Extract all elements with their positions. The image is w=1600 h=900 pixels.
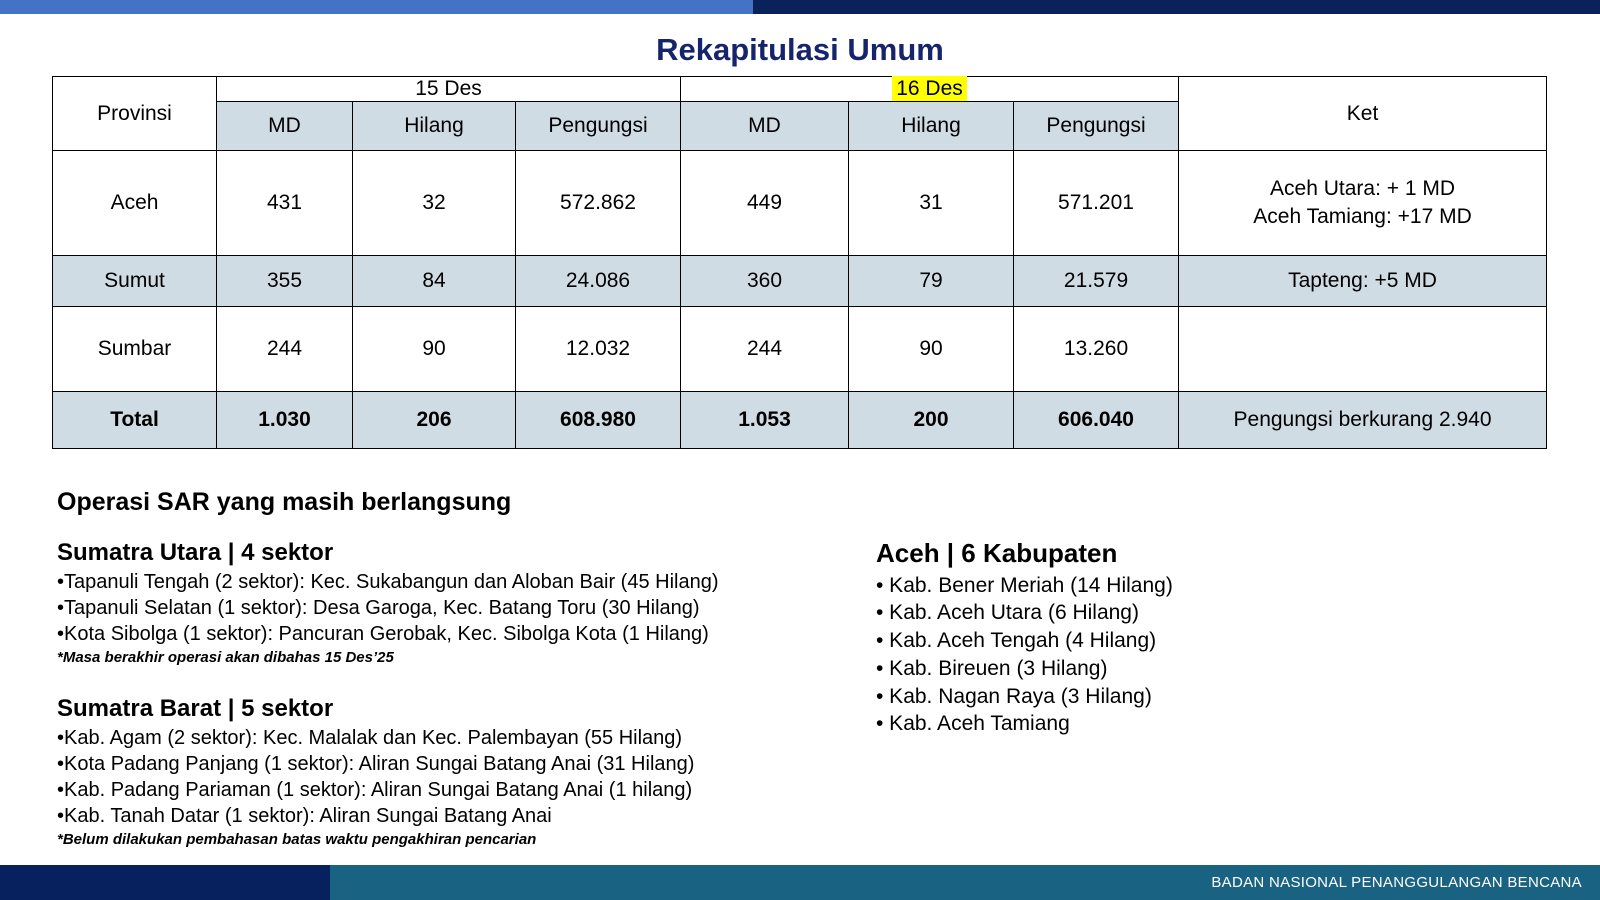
- header-sub-md-16: MD: [681, 102, 849, 151]
- cell-hilang-15: 90: [353, 307, 516, 392]
- footer-organization-name: BADAN NASIONAL PENANGGULANGAN BENCANA: [1211, 874, 1582, 891]
- header-sub-pengungsi-16: Pengungsi: [1014, 102, 1179, 151]
- sar-block-title: Aceh | 6 Kabupaten: [876, 538, 1496, 570]
- table-row-total: Total 1.030 206 608.980 1.053 200 606.04…: [53, 392, 1547, 449]
- list-item: •Kab. Padang Pariaman (1 sektor): Aliran…: [57, 777, 847, 803]
- ket-line: Aceh Tamiang: +17 MD: [1185, 203, 1540, 231]
- cell-pengungsi-16: 606.040: [1014, 392, 1179, 449]
- ket-line: Tapteng: +5 MD: [1185, 267, 1540, 295]
- list-item: • Kab. Aceh Tamiang: [876, 710, 1496, 738]
- section-spacer: [57, 668, 847, 694]
- cell-pengungsi-15: 608.980: [516, 392, 681, 449]
- cell-hilang-16: 200: [849, 392, 1014, 449]
- header-sub-pengungsi-15: Pengungsi: [516, 102, 681, 151]
- header-group-15-des: 15 Des: [217, 77, 681, 102]
- ket-line: Aceh Utara: + 1 MD: [1185, 175, 1540, 203]
- cell-ket: [1179, 307, 1547, 392]
- table-row: Sumbar 244 90 12.032 244 90 13.260: [53, 307, 1547, 392]
- cell-md-16: 244: [681, 307, 849, 392]
- footer-segment-right: BADAN NASIONAL PENANGGULANGAN BENCANA: [330, 865, 1600, 900]
- cell-hilang-16: 31: [849, 151, 1014, 256]
- top-decorative-bar: [0, 0, 1600, 14]
- recapitulation-table-container: Provinsi 15 Des 16 Des Ket MD Hilang Pen…: [52, 76, 1546, 449]
- cell-provinsi: Total: [53, 392, 217, 449]
- header-sub-hilang-15: Hilang: [353, 102, 516, 151]
- sar-bullet-list: • Kab. Bener Meriah (14 Hilang) • Kab. A…: [876, 572, 1496, 738]
- cell-md-15: 355: [217, 256, 353, 307]
- cell-md-15: 244: [217, 307, 353, 392]
- cell-ket: Tapteng: +5 MD: [1179, 256, 1547, 307]
- top-bar-segment-left: [0, 0, 753, 14]
- header-group-16-des-label: 16 Des: [892, 76, 967, 101]
- sar-left-column: Sumatra Utara | 4 sektor •Tapanuli Tenga…: [57, 538, 847, 850]
- cell-pengungsi-16: 571.201: [1014, 151, 1179, 256]
- sar-block-sumatra-utara: Sumatra Utara | 4 sektor •Tapanuli Tenga…: [57, 538, 847, 668]
- cell-hilang-16: 90: [849, 307, 1014, 392]
- list-item: • Kab. Aceh Utara (6 Hilang): [876, 599, 1496, 627]
- cell-provinsi: Aceh: [53, 151, 217, 256]
- table-header-row-groups: Provinsi 15 Des 16 Des Ket: [53, 77, 1547, 102]
- recapitulation-table: Provinsi 15 Des 16 Des Ket MD Hilang Pen…: [52, 76, 1547, 449]
- footer-bar: BADAN NASIONAL PENANGGULANGAN BENCANA: [0, 865, 1600, 900]
- header-provinsi: Provinsi: [53, 77, 217, 151]
- page-title: Rekapitulasi Umum: [0, 32, 1600, 68]
- cell-hilang-15: 206: [353, 392, 516, 449]
- list-item: • Kab. Aceh Tengah (4 Hilang): [876, 627, 1496, 655]
- list-item: • Kab. Bireuen (3 Hilang): [876, 655, 1496, 683]
- list-item: •Tapanuli Tengah (2 sektor): Kec. Sukaba…: [57, 569, 847, 595]
- header-ket: Ket: [1179, 77, 1547, 151]
- cell-pengungsi-16: 21.579: [1014, 256, 1179, 307]
- table-row: Sumut 355 84 24.086 360 79 21.579 Tapten…: [53, 256, 1547, 307]
- cell-hilang-15: 84: [353, 256, 516, 307]
- cell-hilang-15: 32: [353, 151, 516, 256]
- header-sub-md-15: MD: [217, 102, 353, 151]
- sar-right-column: Aceh | 6 Kabupaten • Kab. Bener Meriah (…: [876, 538, 1496, 738]
- header-group-15-des-label: 15 Des: [415, 77, 482, 100]
- list-item: •Tapanuli Selatan (1 sektor): Desa Garog…: [57, 595, 847, 621]
- list-item: • Kab. Bener Meriah (14 Hilang): [876, 572, 1496, 600]
- list-item: •Kota Sibolga (1 sektor): Pancuran Gerob…: [57, 621, 847, 647]
- cell-md-15: 431: [217, 151, 353, 256]
- sar-bullet-list: •Tapanuli Tengah (2 sektor): Kec. Sukaba…: [57, 569, 847, 647]
- header-sub-hilang-16: Hilang: [849, 102, 1014, 151]
- cell-ket: Aceh Utara: + 1 MD Aceh Tamiang: +17 MD: [1179, 151, 1547, 256]
- ket-line: Pengungsi berkurang 2.940: [1185, 406, 1540, 434]
- header-group-16-des: 16 Des: [681, 77, 1179, 102]
- sar-block-sumatra-barat: Sumatra Barat | 5 sektor •Kab. Agam (2 s…: [57, 694, 847, 850]
- list-item: •Kab. Agam (2 sektor): Kec. Malalak dan …: [57, 725, 847, 751]
- sar-bullet-list: •Kab. Agam (2 sektor): Kec. Malalak dan …: [57, 725, 847, 829]
- sar-block-title: Sumatra Utara | 4 sektor: [57, 538, 847, 567]
- list-item: •Kab. Tanah Datar (1 sektor): Aliran Sun…: [57, 803, 847, 829]
- cell-md-16: 449: [681, 151, 849, 256]
- cell-pengungsi-15: 12.032: [516, 307, 681, 392]
- sar-block-title: Sumatra Barat | 5 sektor: [57, 694, 847, 723]
- cell-hilang-16: 79: [849, 256, 1014, 307]
- cell-pengungsi-15: 24.086: [516, 256, 681, 307]
- cell-ket: Pengungsi berkurang 2.940: [1179, 392, 1547, 449]
- top-bar-segment-right: [753, 0, 1600, 14]
- cell-md-16: 1.053: [681, 392, 849, 449]
- cell-provinsi: Sumut: [53, 256, 217, 307]
- sar-footnote: *Belum dilakukan pembahasan batas waktu …: [57, 830, 847, 850]
- cell-pengungsi-16: 13.260: [1014, 307, 1179, 392]
- cell-provinsi: Sumbar: [53, 307, 217, 392]
- cell-md-15: 1.030: [217, 392, 353, 449]
- cell-pengungsi-15: 572.862: [516, 151, 681, 256]
- sar-section-heading: Operasi SAR yang masih berlangsung: [57, 488, 511, 517]
- footer-segment-left: [0, 865, 330, 900]
- list-item: •Kota Padang Panjang (1 sektor): Aliran …: [57, 751, 847, 777]
- cell-md-16: 360: [681, 256, 849, 307]
- sar-block-aceh: Aceh | 6 Kabupaten • Kab. Bener Meriah (…: [876, 538, 1496, 738]
- table-row: Aceh 431 32 572.862 449 31 571.201 Aceh …: [53, 151, 1547, 256]
- list-item: • Kab. Nagan Raya (3 Hilang): [876, 683, 1496, 711]
- sar-footnote: *Masa berakhir operasi akan dibahas 15 D…: [57, 648, 847, 668]
